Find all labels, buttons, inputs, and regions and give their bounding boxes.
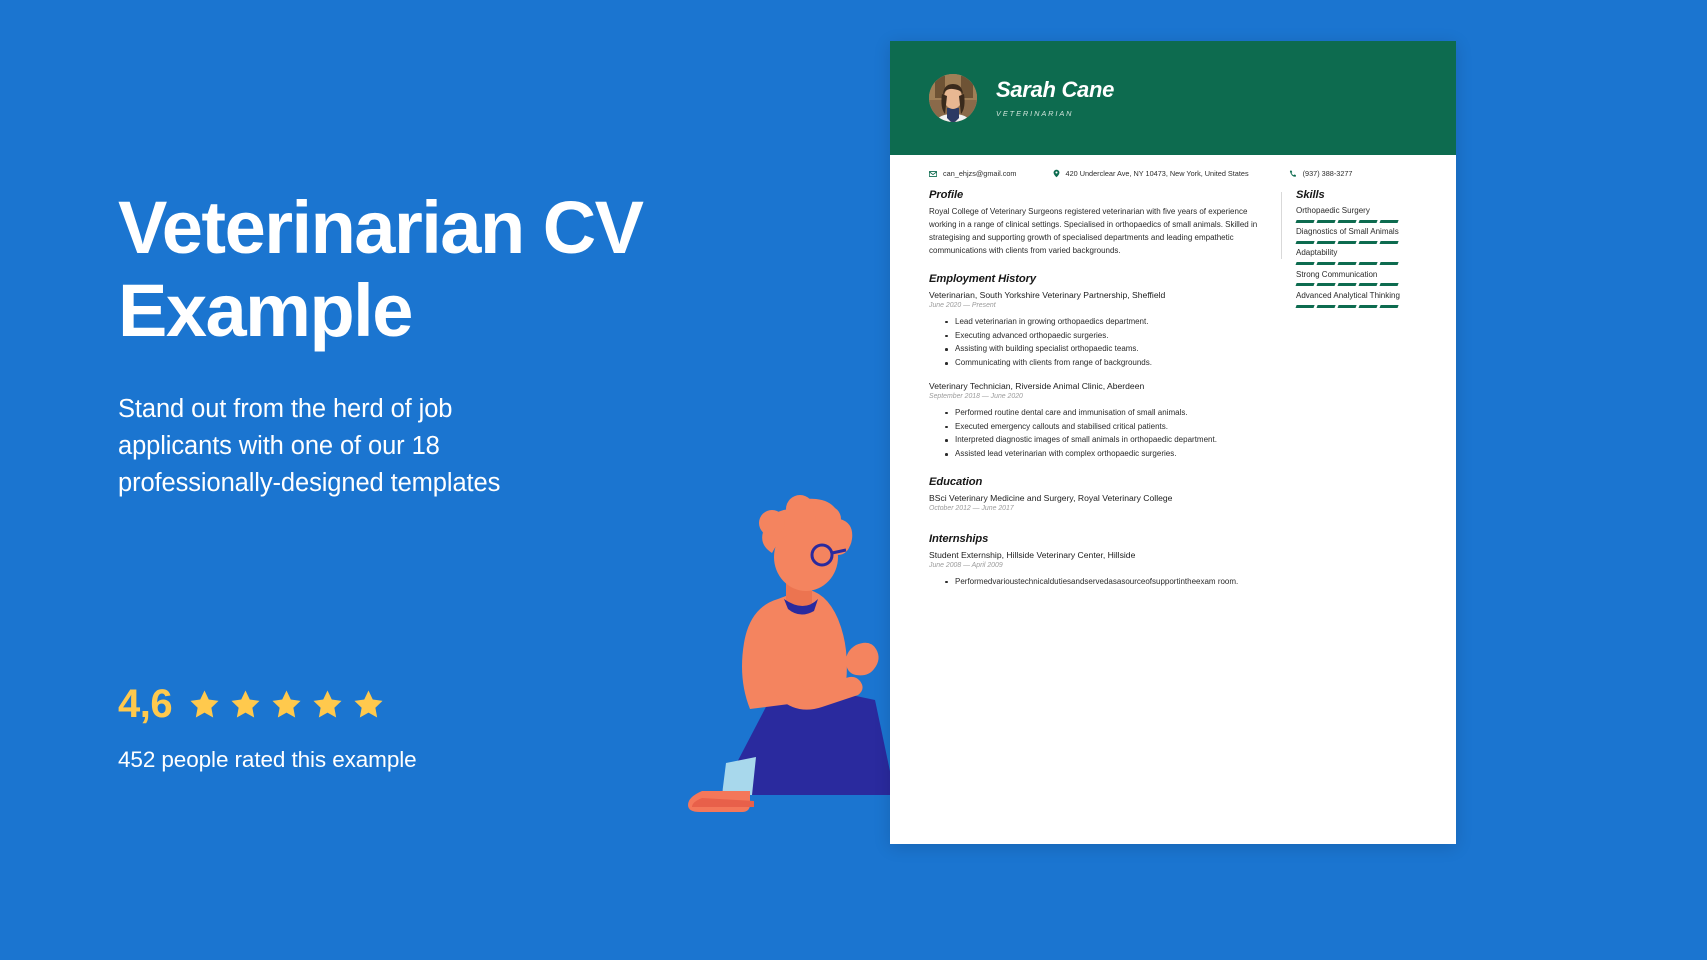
- skill-label: Strong Communication: [1296, 270, 1408, 281]
- skill-level-bar: [1296, 262, 1408, 265]
- list-item: Assisted lead veterinarian with complex …: [945, 447, 1267, 461]
- spacer: [929, 370, 1267, 381]
- skill-level-bar: [1296, 220, 1408, 223]
- skill-segment: [1337, 220, 1356, 223]
- section-title-profile: Profile: [929, 189, 1267, 201]
- spacer: [929, 518, 1267, 533]
- skill-item: Orthopaedic Surgery: [1296, 206, 1408, 223]
- skill-segment: [1358, 220, 1377, 223]
- cv-header-text: Sarah Cane VETERINARIAN: [996, 78, 1114, 117]
- star-icon: [352, 688, 385, 721]
- skill-segment: [1316, 241, 1335, 244]
- job-date: September 2018 — June 2020: [929, 393, 1267, 400]
- skill-segment: [1316, 220, 1335, 223]
- skill-segment: [1358, 283, 1377, 286]
- skill-item: Adaptability: [1296, 248, 1408, 265]
- star-rating: [188, 688, 385, 721]
- cv-contact-bar: can_ehjzs@gmail.com 420 Underclear Ave, …: [890, 155, 1456, 178]
- skill-segment: [1379, 283, 1398, 286]
- rating-row: 4,6: [118, 682, 838, 727]
- list-item: Assisting with building specialist ortho…: [945, 342, 1267, 356]
- list-item: Interpreted diagnostic images of small a…: [945, 433, 1267, 447]
- internship-entry: Student Externship, Hillside Veterinary …: [929, 550, 1267, 589]
- star-icon: [188, 688, 221, 721]
- contact-phone-text: (937) 388-3277: [1303, 169, 1353, 178]
- promo-subtitle: Stand out from the herd of job applicant…: [118, 391, 538, 503]
- cv-name: Sarah Cane: [996, 78, 1114, 102]
- skill-segment: [1358, 262, 1377, 265]
- education-date: October 2012 — June 2017: [929, 505, 1267, 512]
- spacer: [929, 258, 1267, 273]
- education-entry: BSci Veterinary Medicine and Surgery, Ro…: [929, 493, 1267, 512]
- contact-email: can_ehjzs@gmail.com: [929, 169, 1017, 178]
- skill-segment: [1316, 305, 1335, 308]
- internship-date: June 2008 — April 2009: [929, 562, 1267, 569]
- list-item: Lead veterinarian in growing orthopaedic…: [945, 315, 1267, 329]
- star-icon: [229, 688, 262, 721]
- skill-segment: [1358, 241, 1377, 244]
- list-item: Performedvarioustechnicaldutiesandserved…: [945, 575, 1267, 589]
- cv-role: VETERINARIAN: [996, 109, 1114, 118]
- contact-email-text: can_ehjzs@gmail.com: [943, 169, 1017, 178]
- cv-header: Sarah Cane VETERINARIAN: [890, 41, 1456, 155]
- envelope-icon: [929, 170, 937, 178]
- skill-level-bar: [1296, 283, 1408, 286]
- skill-item: Advanced Analytical Thinking: [1296, 291, 1408, 308]
- internship-role: Student Externship, Hillside Veterinary …: [929, 550, 1267, 560]
- skill-level-bar: [1296, 241, 1408, 244]
- list-item: Executing advanced orthopaedic surgeries…: [945, 329, 1267, 343]
- spacer: [929, 461, 1267, 476]
- skill-item: Strong Communication: [1296, 270, 1408, 287]
- job-role: Veterinarian, South Yorkshire Veterinary…: [929, 290, 1267, 300]
- skill-label: Orthopaedic Surgery: [1296, 206, 1408, 217]
- internship-bullets: Performedvarioustechnicaldutiesandserved…: [945, 575, 1267, 589]
- list-item: Communicating with clients from range of…: [945, 356, 1267, 370]
- cv-side-column: Skills Orthopaedic Surgery Diagnostics o…: [1282, 189, 1408, 589]
- page-title: Veterinarian CV Example: [118, 187, 758, 353]
- star-icon: [311, 688, 344, 721]
- cv-body: Profile Royal College of Veterinary Surg…: [890, 178, 1456, 589]
- list-item: Executed emergency callouts and stabilis…: [945, 420, 1267, 434]
- skill-label: Diagnostics of Small Animals: [1296, 227, 1408, 238]
- section-title-employment: Employment History: [929, 273, 1267, 285]
- cv-main-column: Profile Royal College of Veterinary Surg…: [929, 189, 1281, 589]
- phone-icon: [1289, 170, 1297, 178]
- skill-segment: [1295, 283, 1314, 286]
- section-title-internships: Internships: [929, 533, 1267, 545]
- skill-segment: [1316, 262, 1335, 265]
- employment-entry: Veterinary Technician, Riverside Animal …: [929, 381, 1267, 461]
- education-degree: BSci Veterinary Medicine and Surgery, Ro…: [929, 493, 1267, 503]
- contact-phone: (937) 388-3277: [1289, 169, 1353, 178]
- skill-segment: [1295, 305, 1314, 308]
- section-title-education: Education: [929, 476, 1267, 488]
- rating-block: 4,6 452 people rated this exampl: [118, 682, 838, 773]
- skill-segment: [1379, 220, 1398, 223]
- skill-level-bar: [1296, 305, 1408, 308]
- job-date: June 2020 — Present: [929, 302, 1267, 309]
- contact-address-text: 420 Underclear Ave, NY 10473, New York, …: [1066, 169, 1249, 178]
- star-icon: [270, 688, 303, 721]
- skill-item: Diagnostics of Small Animals: [1296, 227, 1408, 244]
- avatar: [929, 74, 977, 122]
- skill-segment: [1295, 241, 1314, 244]
- skill-segment: [1379, 262, 1398, 265]
- skill-segment: [1295, 262, 1314, 265]
- skill-segment: [1379, 241, 1398, 244]
- job-bullets: Performed routine dental care and immuni…: [945, 406, 1267, 461]
- location-pin-icon: [1053, 169, 1060, 178]
- skill-segment: [1337, 305, 1356, 308]
- section-title-skills: Skills: [1296, 189, 1408, 201]
- skill-label: Adaptability: [1296, 248, 1408, 259]
- promo-panel: Veterinarian CV Example Stand out from t…: [118, 0, 838, 960]
- contact-address: 420 Underclear Ave, NY 10473, New York, …: [1053, 169, 1249, 178]
- rating-caption: 452 people rated this example: [118, 747, 838, 773]
- skill-segment: [1379, 305, 1398, 308]
- cv-preview-document[interactable]: Sarah Cane VETERINARIAN can_ehjzs@gmail.…: [890, 41, 1456, 844]
- list-item: Performed routine dental care and immuni…: [945, 406, 1267, 420]
- rating-score: 4,6: [118, 682, 172, 727]
- skill-segment: [1316, 283, 1335, 286]
- job-role: Veterinary Technician, Riverside Animal …: [929, 381, 1267, 391]
- skill-segment: [1358, 305, 1377, 308]
- skill-segment: [1337, 262, 1356, 265]
- job-bullets: Lead veterinarian in growing orthopaedic…: [945, 315, 1267, 370]
- skill-segment: [1337, 241, 1356, 244]
- employment-entry: Veterinarian, South Yorkshire Veterinary…: [929, 290, 1267, 370]
- skill-label: Advanced Analytical Thinking: [1296, 291, 1408, 302]
- skill-segment: [1295, 220, 1314, 223]
- profile-text: Royal College of Veterinary Surgeons reg…: [929, 206, 1267, 258]
- skill-segment: [1337, 283, 1356, 286]
